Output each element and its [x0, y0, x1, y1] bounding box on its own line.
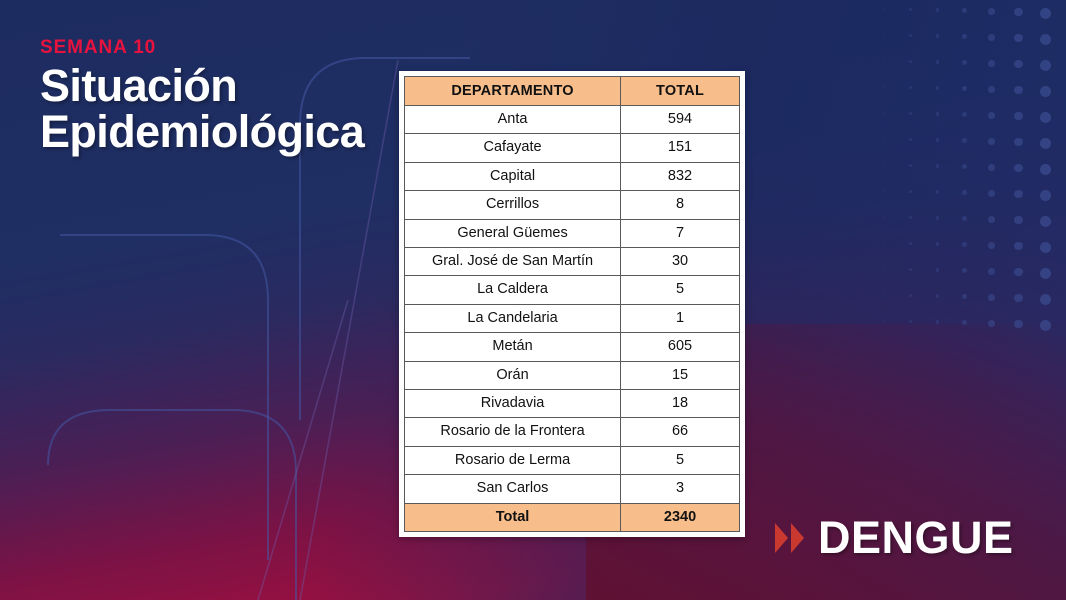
brand-name: DENGUE: [818, 515, 1014, 560]
departamento-total-table: DEPARTAMENTO TOTAL Anta594Cafayate151Cap…: [404, 76, 740, 532]
cell-total: 1: [621, 304, 740, 332]
halftone-dot-pattern: [816, 0, 1066, 340]
total-row-value: 2340: [621, 503, 740, 531]
table-row: La Caldera5: [405, 276, 740, 304]
cell-total: 605: [621, 333, 740, 361]
table-row: Anta594: [405, 106, 740, 134]
table-row: Cafayate151: [405, 134, 740, 162]
table-row: Rosario de la Frontera66: [405, 418, 740, 446]
table-row: Rosario de Lerma5: [405, 446, 740, 474]
week-label: SEMANA 10: [40, 38, 410, 57]
cell-departamento: Orán: [405, 361, 621, 389]
cell-departamento: Rosario de la Frontera: [405, 418, 621, 446]
column-header-total: TOTAL: [621, 77, 740, 106]
cell-departamento: Anta: [405, 106, 621, 134]
cell-total: 5: [621, 446, 740, 474]
page-title: Situación Epidemiológica: [40, 63, 410, 156]
table-row: Cerrillos8: [405, 191, 740, 219]
slide-canvas: SEMANA 10 Situación Epidemiológica DEPAR…: [0, 0, 1066, 600]
total-row-label: Total: [405, 503, 621, 531]
dengue-lockup: DENGUE: [775, 515, 1014, 560]
cell-departamento: Rivadavia: [405, 390, 621, 418]
table-body: Anta594Cafayate151Capital832Cerrillos8Ge…: [405, 106, 740, 504]
cell-total: 15: [621, 361, 740, 389]
cell-total: 5: [621, 276, 740, 304]
table-total-row: Total 2340: [405, 503, 740, 531]
cell-departamento: La Caldera: [405, 276, 621, 304]
cell-departamento: Metán: [405, 333, 621, 361]
column-header-departamento: DEPARTAMENTO: [405, 77, 621, 106]
cell-total: 832: [621, 162, 740, 190]
cell-total: 7: [621, 219, 740, 247]
cell-departamento: La Candelaria: [405, 304, 621, 332]
cell-total: 66: [621, 418, 740, 446]
cell-departamento: General Güemes: [405, 219, 621, 247]
double-chevron-right-icon: [775, 523, 804, 553]
table-foot: Total 2340: [405, 503, 740, 531]
table-row: Capital832: [405, 162, 740, 190]
cell-departamento: Rosario de Lerma: [405, 446, 621, 474]
cell-departamento: Cerrillos: [405, 191, 621, 219]
table-header-row: DEPARTAMENTO TOTAL: [405, 77, 740, 106]
table-head: DEPARTAMENTO TOTAL: [405, 77, 740, 106]
page-title-line-1: Situación: [40, 63, 410, 109]
table-row: General Güemes7: [405, 219, 740, 247]
cell-total: 30: [621, 248, 740, 276]
cell-total: 18: [621, 390, 740, 418]
data-table-frame: DEPARTAMENTO TOTAL Anta594Cafayate151Cap…: [399, 71, 745, 537]
table-row: Rivadavia18: [405, 390, 740, 418]
table-row: San Carlos3: [405, 475, 740, 503]
cell-total: 3: [621, 475, 740, 503]
table-row: Orán15: [405, 361, 740, 389]
table-row: La Candelaria1: [405, 304, 740, 332]
cell-total: 8: [621, 191, 740, 219]
cell-total: 151: [621, 134, 740, 162]
table-row: Gral. José de San Martín30: [405, 248, 740, 276]
cell-departamento: San Carlos: [405, 475, 621, 503]
table-row: Metán605: [405, 333, 740, 361]
headline-block: SEMANA 10 Situación Epidemiológica: [40, 38, 410, 156]
page-title-line-2: Epidemiológica: [40, 109, 410, 155]
cell-departamento: Gral. José de San Martín: [405, 248, 621, 276]
cell-departamento: Capital: [405, 162, 621, 190]
cell-total: 594: [621, 106, 740, 134]
cell-departamento: Cafayate: [405, 134, 621, 162]
